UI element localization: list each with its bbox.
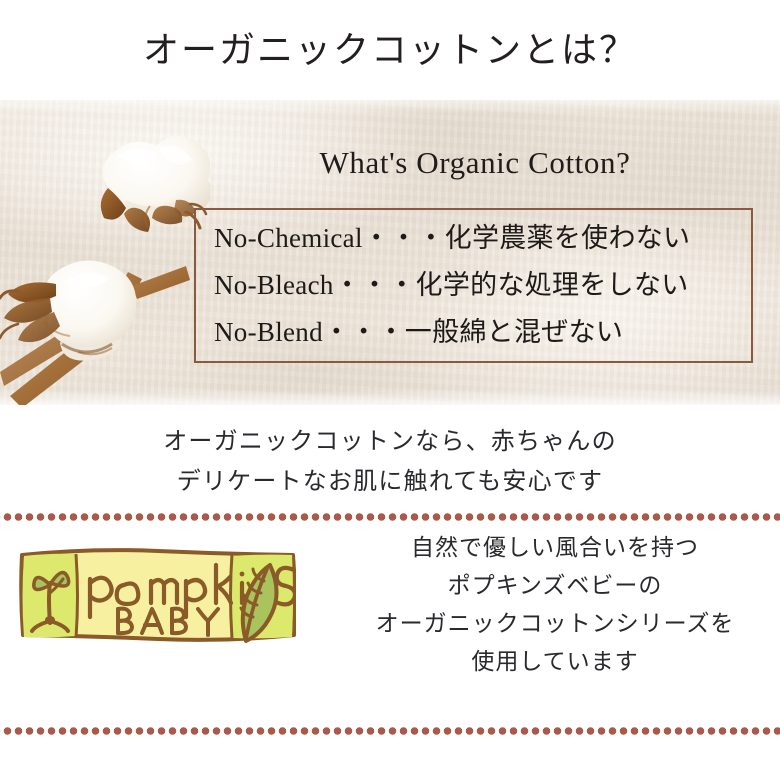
brand-description-line: ポプキンズベビーの bbox=[330, 567, 780, 605]
brand-description-line: オーガニックコットンシリーズを bbox=[330, 605, 780, 643]
dotted-divider-top bbox=[0, 513, 780, 521]
hero-heading: What's Organic Cotton? bbox=[190, 145, 760, 181]
brand-description-line: 使用しています bbox=[330, 643, 780, 681]
brand-description-line: 自然で優しい風合いを持つ bbox=[330, 529, 780, 567]
brand-section: 自然で優しい風合いを持つ ポプキンズベビーの オーガニックコットンシリーズを 使… bbox=[0, 521, 780, 699]
feature-item: No-Chemical・・・化学農薬を使わない bbox=[214, 215, 739, 262]
dotted-divider-bottom bbox=[0, 727, 780, 735]
hero-photo-band: What's Organic Cotton? No-Chemical・・・化学農… bbox=[0, 100, 780, 405]
pompkins-baby-logo bbox=[18, 543, 296, 647]
cotton-bolls-photo bbox=[0, 100, 210, 405]
feature-item: No-Bleach・・・化学的な処理をしない bbox=[214, 262, 739, 309]
lead-line: オーガニックコットンなら、赤ちゃんの bbox=[0, 421, 780, 461]
brand-description: 自然で優しい風合いを持つ ポプキンズベビーの オーガニックコットンシリーズを 使… bbox=[330, 529, 780, 681]
feature-item: No-Blend・・・一般綿と混ぜない bbox=[214, 309, 739, 356]
page-title: オーガニックコットンとは？ bbox=[0, 0, 780, 100]
feature-box: No-Chemical・・・化学農薬を使わない No-Bleach・・・化学的な… bbox=[194, 208, 753, 363]
lead-line: デリケートなお肌に触れても安心です bbox=[0, 461, 780, 501]
lead-paragraph: オーガニックコットンなら、赤ちゃんの デリケートなお肌に触れても安心です bbox=[0, 405, 780, 501]
